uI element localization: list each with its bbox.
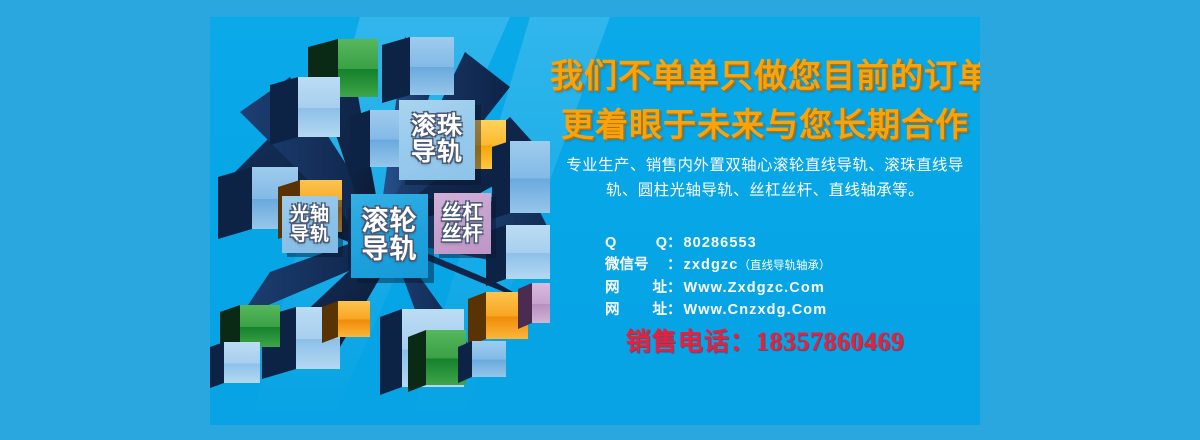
product-label-line1: 滚轮 [362, 208, 418, 236]
product-label-line2: 导轨 [362, 236, 418, 264]
contact-label: 网 址 [605, 277, 667, 299]
sales-phone[interactable]: 销售电话：18357860469 [550, 322, 980, 358]
contact-colon: ： [667, 277, 682, 299]
contact-value-website-2[interactable]: Www.Cnzxdg.Com [684, 299, 828, 321]
product-label-line2: 丝杆 [442, 224, 484, 245]
contact-label: 网 址 [605, 299, 667, 321]
product-label-guangzhou-daogui[interactable]: 光轴 导轨 [282, 196, 338, 253]
banner-panel: 滚珠 导轨 光轴 导轨 滚轮 导轨 丝杠 丝杆 我们不单单只做您目前的订单 更着… [210, 17, 980, 425]
sales-phone-label: 销售电话： [626, 328, 756, 356]
sales-phone-number[interactable]: 18357860469 [756, 327, 905, 356]
contact-value-wechat[interactable]: zxdgzc [684, 254, 739, 276]
contact-colon: ： [667, 254, 682, 276]
contact-value-website-1[interactable]: Www.Zxdgzc.Com [684, 277, 825, 299]
product-label-gunlun-daogui[interactable]: 滚轮 导轨 [351, 194, 428, 278]
contact-label: 微信号 [605, 254, 667, 276]
banner-content: 我们不单单只做您目前的订单 更着眼于未来与您长期合作 专业生产、销售内外置双轴心… [550, 17, 980, 425]
product-label-line1: 滚珠 [411, 114, 463, 140]
banner-stage: 滚珠 导轨 光轴 导轨 滚轮 导轨 丝杠 丝杆 我们不单单只做您目前的订单 更着… [0, 0, 1200, 440]
contact-row-wechat: 微信号 ： zxdgzc （直线导轨轴承） [605, 254, 980, 276]
contact-label: Q Q [605, 232, 667, 254]
contact-row-qq: Q Q ： 80286553 [605, 232, 980, 254]
product-label-line2: 导轨 [290, 225, 330, 245]
headline-line-1: 我们不单单只做您目前的订单 [550, 49, 980, 97]
contact-colon: ： [667, 232, 682, 254]
contact-row-website-2: 网 址 ： Www.Cnzxdg.Com [605, 299, 980, 321]
headline-line-2: 更着眼于未来与您长期合作 [550, 98, 980, 146]
contact-colon: ： [667, 299, 682, 321]
product-label-line1: 光轴 [290, 205, 330, 225]
product-label-line1: 丝杠 [442, 203, 484, 224]
contact-list: Q Q ： 80286553 微信号 ： zxdgzc （直线导轨轴承） [605, 232, 980, 322]
contact-row-website-1: 网 址 ： Www.Zxdgzc.Com [605, 277, 980, 299]
product-label-line2: 导轨 [411, 140, 463, 166]
company-description: 专业生产、销售内外置双轴心滚轮直线导轨、滚珠直线导轨、圆柱光轴导轨、丝杠丝杆、直… [565, 153, 965, 203]
contact-note-wechat: （直线导轨轴承） [738, 258, 830, 276]
product-label-sigang-sigan[interactable]: 丝杠 丝杆 [434, 193, 491, 254]
contact-value-qq[interactable]: 80286553 [684, 232, 757, 254]
product-label-gunzhu-daogui[interactable]: 滚珠 导轨 [399, 100, 475, 180]
